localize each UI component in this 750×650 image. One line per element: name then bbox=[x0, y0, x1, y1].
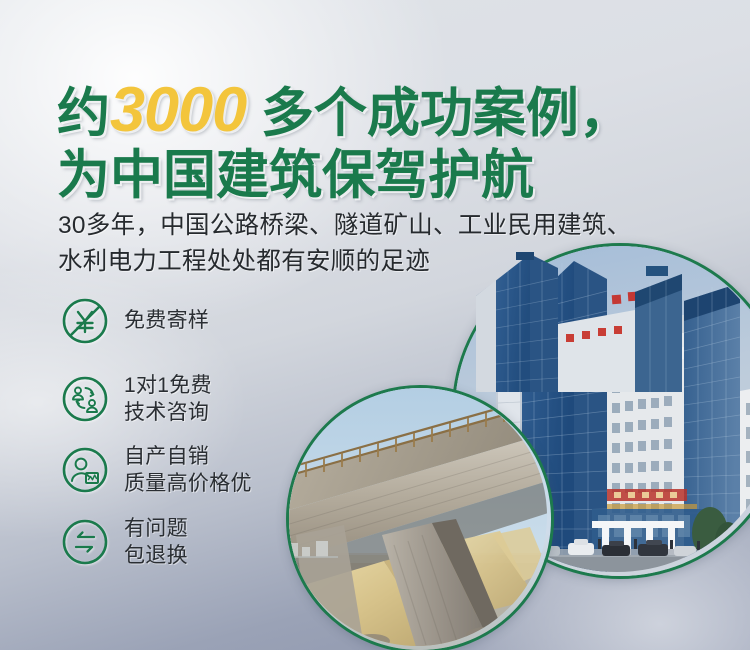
feature-line-2: 技术咨询 bbox=[124, 399, 212, 426]
feature-line-2: 包退换 bbox=[124, 542, 188, 569]
headline-line-2: 为中国建筑保驾护航 bbox=[57, 149, 717, 204]
feature-item-consultation: 1对1免费 技术咨询 bbox=[60, 372, 360, 427]
feature-item-free-sample: 免费寄样 bbox=[60, 296, 360, 346]
headline-number: 3000 bbox=[110, 75, 246, 145]
feature-line-1: 有问题 bbox=[124, 515, 188, 542]
subtitle: 30多年，中国公路桥梁、隧道矿山、工业民用建筑、 水利电力工程处处都有安顺的足迹 bbox=[58, 208, 723, 281]
headline-line-1: 约3000 多个成功案例， bbox=[57, 78, 717, 143]
page-title: 约3000 多个成功案例， 为中国建筑保驾护航 bbox=[57, 78, 717, 203]
promo-banner: 约3000 多个成功案例， 为中国建筑保驾护航 30多年，中国公路桥梁、隧道矿山… bbox=[0, 0, 750, 650]
feature-line-1: 1对1免费 bbox=[124, 372, 212, 399]
subtitle-line-1: 30多年，中国公路桥梁、隧道矿山、工业民用建筑、 bbox=[58, 208, 723, 244]
free-sample-icon bbox=[60, 296, 110, 346]
return-exchange-icon bbox=[60, 517, 110, 567]
headline-suffix: 多个成功案例， bbox=[246, 84, 632, 143]
feature-item-consultation-text: 1对1免费 技术咨询 bbox=[124, 372, 212, 427]
feature-item-free-sample-text: 免费寄样 bbox=[124, 307, 209, 334]
self-production-quality-icon bbox=[60, 445, 110, 495]
feature-line-1: 自产自销 bbox=[124, 443, 252, 470]
feature-item-return-exchange-text: 有问题 包退换 bbox=[124, 515, 188, 570]
feature-line-2: 质量高价格优 bbox=[124, 470, 252, 497]
feature-line-1: 免费寄样 bbox=[124, 307, 209, 334]
subtitle-line-2: 水利电力工程处处都有安顺的足迹 bbox=[58, 244, 723, 280]
one-on-one-consult-icon bbox=[60, 374, 110, 424]
feature-item-self-production: 自产自销 质量高价格优 bbox=[60, 443, 360, 498]
feature-item-return-exchange: 有问题 包退换 bbox=[60, 515, 360, 570]
headline-prefix: 约 bbox=[57, 84, 110, 143]
feature-list: 免费寄样 bbox=[60, 296, 360, 584]
feature-item-self-production-text: 自产自销 质量高价格优 bbox=[124, 443, 252, 498]
